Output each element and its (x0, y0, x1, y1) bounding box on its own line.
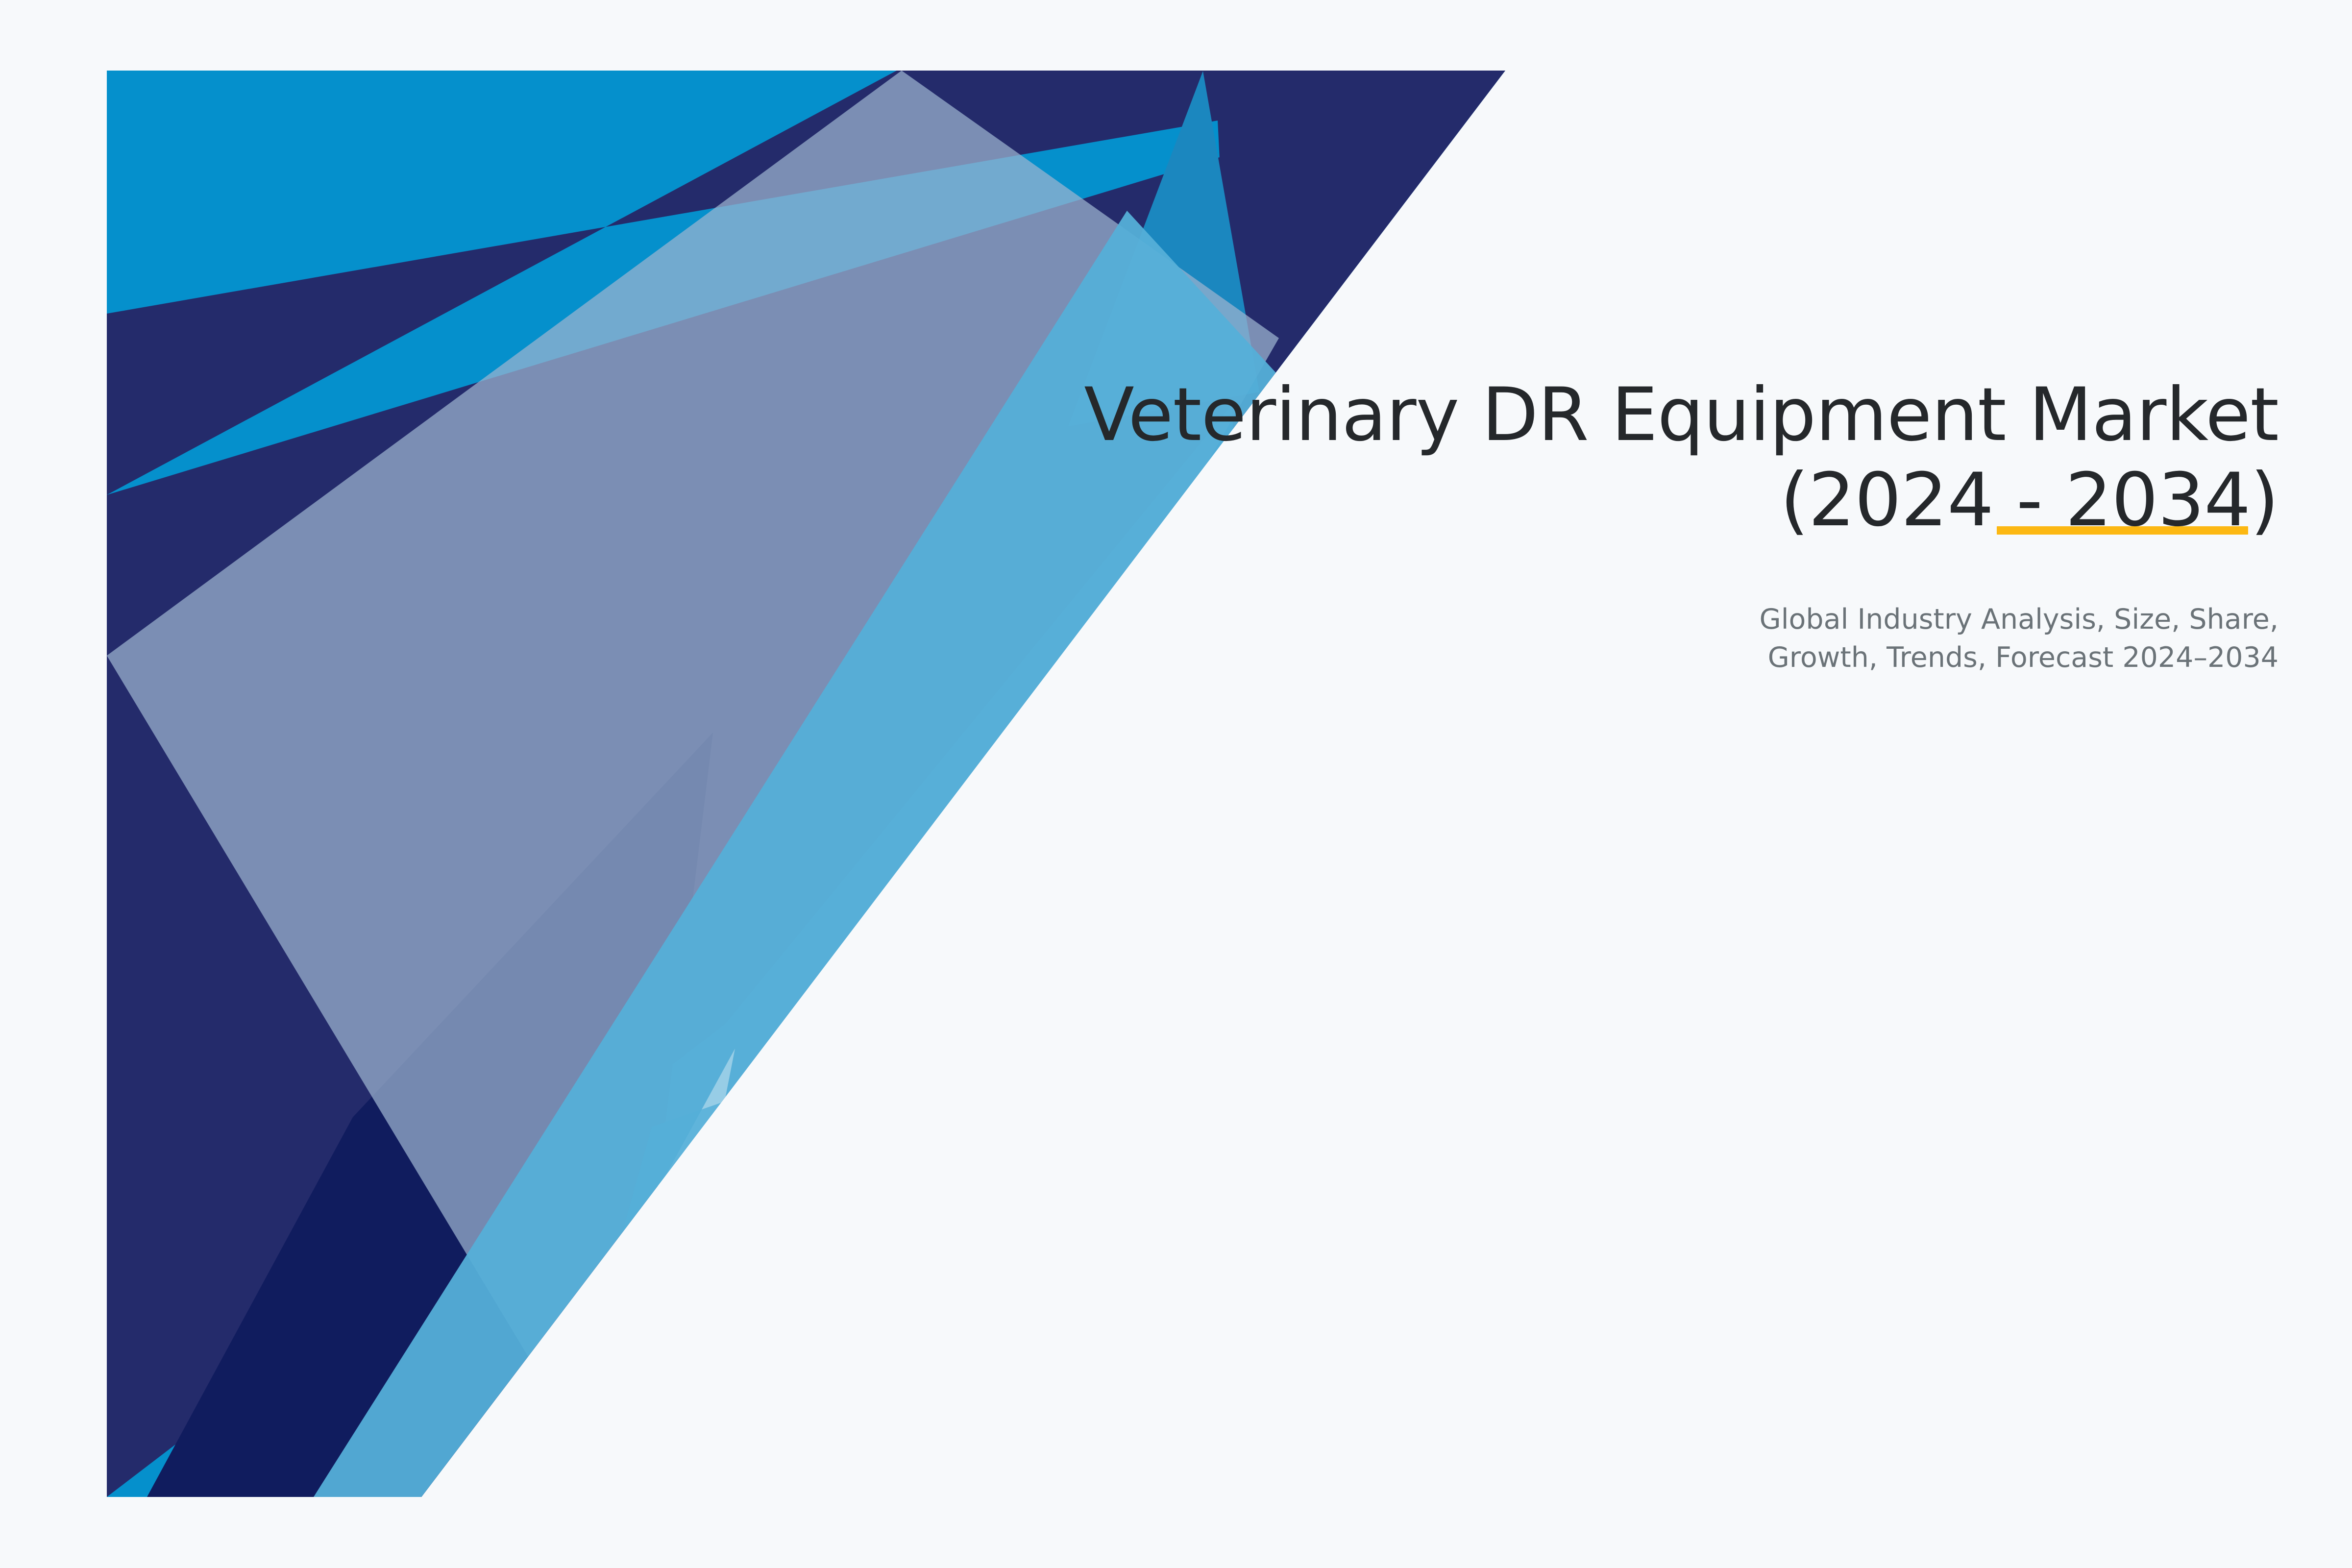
shape-cyan-field (0, 0, 2352, 1568)
shape-deep-navy-triangle (289, 733, 713, 1497)
shape-navy-mass (107, 71, 1505, 1497)
page-subtitle: Global Industry Analysis, Size, Share, G… (1000, 543, 2278, 677)
cover-artwork (0, 0, 2352, 1568)
page-title: Veterinary DR Equipment Market (2024 - 2… (1000, 372, 2278, 543)
shape-steel-blue-panel (107, 71, 1279, 1497)
shape-deep-navy-lower (147, 733, 713, 1497)
shape-bottom-cyan-strip (549, 1093, 750, 1497)
cover-slide: Veterinary DR Equipment Market (2024 - 2… (0, 0, 2352, 1568)
shape-pale-accent-wedge (490, 1049, 735, 1497)
cover-text-block: Veterinary DR Equipment Market (2024 - 2… (1000, 372, 2278, 677)
